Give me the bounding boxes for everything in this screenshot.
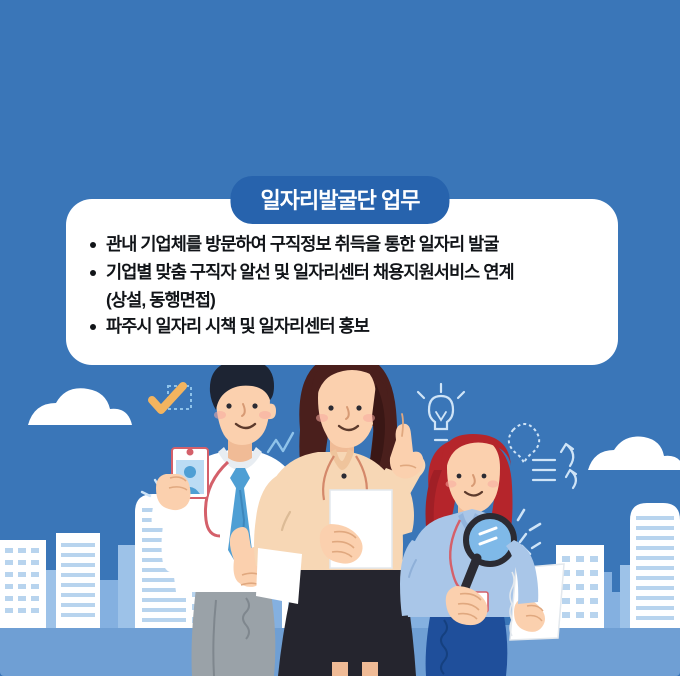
section-badge: 일자리발굴단 업무 [230,176,449,224]
list-item: 관내 기업체를 방문하여 구직정보 취득을 통한 일자리 발굴 [88,231,596,257]
list-item: 기업별 맞춤 구직자 알선 및 일자리센터 채용지원서비스 연계 [88,259,596,285]
list-item-sub: (상설, 동행면접) [88,288,596,313]
list-item: 파주시 일자리 시책 및 일자리센터 홍보 [88,313,596,339]
duty-list: 관내 기업체를 방문하여 구직정보 취득을 통한 일자리 발굴 기업별 맞춤 구… [88,231,596,339]
poster-root: 시민중심 더큰 파주 PAJU 2026 찾아가는 일자리 발굴단 관내 기업체… [0,0,680,676]
